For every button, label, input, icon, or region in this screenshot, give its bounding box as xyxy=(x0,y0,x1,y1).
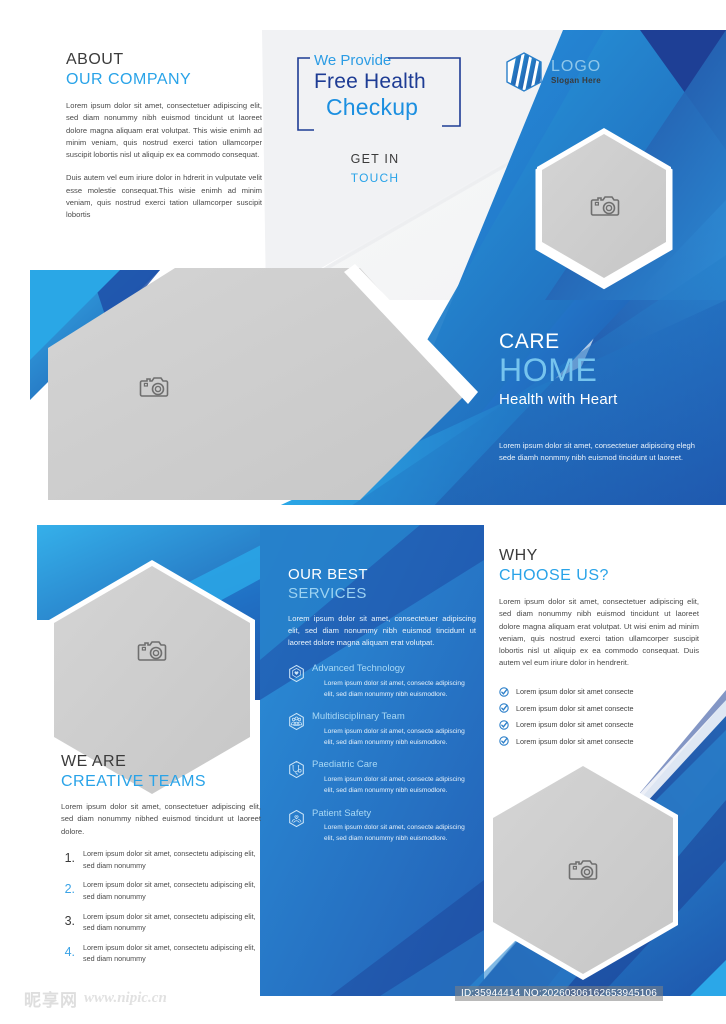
services-intro: Lorem ipsum dolor sit amet, consectetuer… xyxy=(288,613,476,650)
list-item[interactable]: 3. Lorem ipsum dolor sit amet, consectet… xyxy=(61,911,261,934)
camera-icon xyxy=(137,638,167,664)
hexagon-stethoscope-icon xyxy=(288,760,305,779)
hexagon-hands-heart-icon xyxy=(288,809,305,828)
service-description: Lorem ipsum dolor sit amet, consecte adi… xyxy=(312,678,476,701)
services-heading-line2: SERVICES xyxy=(288,585,476,604)
services-heading-line1: OUR BEST xyxy=(288,566,476,585)
check-circle-icon xyxy=(499,720,509,730)
service-item[interactable]: Paediatric Care Lorem ipsum dolor sit am… xyxy=(288,759,476,796)
why-bullet-text: Lorem ipsum dolor sit amet consecte xyxy=(516,737,633,746)
service-title: Patient Safety xyxy=(312,808,476,819)
bracket-frame-icon xyxy=(292,50,472,138)
care-line1: CARE xyxy=(499,330,709,353)
list-item[interactable]: Lorem ipsum dolor sit amet consecte xyxy=(499,736,699,746)
teams-item-text: Lorem ipsum dolor sit amet, consectetu a… xyxy=(83,911,261,934)
creative-teams-section: WE ARE CREATIVE TEAMS Lorem ipsum dolor … xyxy=(61,752,261,973)
camera-icon xyxy=(568,857,598,883)
teams-paragraph: Lorem ipsum dolor sit amet, consectetuer… xyxy=(61,801,261,838)
about-section: ABOUT OUR COMPANY Lorem ipsum dolor sit … xyxy=(66,50,262,233)
service-title: Paediatric Care xyxy=(312,759,476,770)
hexagon-stripes-logo-icon xyxy=(505,52,543,92)
logo-slogan: Slogan Here xyxy=(551,75,601,86)
status-badge: ID:35944414 NO:20260306162653945106 xyxy=(455,986,663,1001)
watermark: 昵享网 www.nipic.cn xyxy=(24,986,167,1011)
camera-icon xyxy=(139,374,169,400)
teams-item-text: Lorem ipsum dolor sit amet, consectetu a… xyxy=(83,848,261,871)
get-in-touch-line1: GET IN xyxy=(300,150,450,169)
service-title: Advanced Technology xyxy=(312,663,476,674)
list-item[interactable]: 4. Lorem ipsum dolor sit amet, consectet… xyxy=(61,942,261,965)
teams-item-number: 2. xyxy=(61,879,75,902)
get-in-touch-section: GET IN TOUCH xyxy=(300,150,450,187)
why-bullet-text: Lorem ipsum dolor sit amet consecte xyxy=(516,720,633,729)
service-item[interactable]: Multidisciplinary Team Lorem ipsum dolor… xyxy=(288,711,476,748)
about-paragraph-1: Lorem ipsum dolor sit amet, consectetuer… xyxy=(66,100,262,161)
camera-icon xyxy=(590,193,620,219)
why-bullet-list: Lorem ipsum dolor sit amet consecte Lore… xyxy=(499,687,699,747)
why-choose-us-section: WHY CHOOSE US? Lorem ipsum dolor sit ame… xyxy=(499,546,699,753)
care-line2: HOME xyxy=(499,353,709,388)
care-paragraph: Lorem ipsum dolor sit amet, consectetuer… xyxy=(499,440,695,465)
list-item[interactable]: Lorem ipsum dolor sit amet consecte xyxy=(499,687,699,697)
teams-heading-line1: WE ARE xyxy=(61,752,261,772)
teams-item-number: 3. xyxy=(61,911,75,934)
get-in-touch-line2: TOUCH xyxy=(300,169,450,187)
service-description: Lorem ipsum dolor sit amet, consecte adi… xyxy=(312,822,476,845)
why-heading-line1: WHY xyxy=(499,546,699,566)
service-title: Multidisciplinary Team xyxy=(312,711,476,722)
check-circle-icon xyxy=(499,736,509,746)
teams-item-number: 4. xyxy=(61,942,75,965)
services-section: OUR BEST SERVICES Lorem ipsum dolor sit … xyxy=(288,566,476,856)
why-paragraph: Lorem ipsum dolor sit amet, consectetuer… xyxy=(499,596,699,670)
teams-item-text: Lorem ipsum dolor sit amet, consectetu a… xyxy=(83,942,261,965)
logo-name: LOGO xyxy=(551,58,601,76)
service-description: Lorem ipsum dolor sit amet, consecte adi… xyxy=(312,726,476,749)
brochure-page: ABOUT OUR COMPANY Lorem ipsum dolor sit … xyxy=(0,0,726,1024)
care-paragraph-wrap: Lorem ipsum dolor sit amet, consectetuer… xyxy=(499,440,695,465)
list-item[interactable]: Lorem ipsum dolor sit amet consecte xyxy=(499,703,699,713)
teams-numbered-list: 1. Lorem ipsum dolor sit amet, consectet… xyxy=(61,848,261,965)
teams-item-text: Lorem ipsum dolor sit amet, consectetu a… xyxy=(83,879,261,902)
watermark-chinese-text: 昵享网 xyxy=(24,986,78,1011)
about-paragraph-2: Duis autem vel eum iriure dolor in hdrer… xyxy=(66,172,262,221)
about-heading-line1: ABOUT xyxy=(66,50,262,70)
care-line3: Health with Heart xyxy=(499,390,709,410)
list-item[interactable]: 2. Lorem ipsum dolor sit amet, consectet… xyxy=(61,879,261,902)
care-home-section: CARE HOME Health with Heart xyxy=(499,330,709,409)
teams-item-number: 1. xyxy=(61,848,75,871)
list-item[interactable]: 1. Lorem ipsum dolor sit amet, consectet… xyxy=(61,848,261,871)
why-bullet-text: Lorem ipsum dolor sit amet consecte xyxy=(516,704,633,713)
watermark-url: www.nipic.cn xyxy=(84,990,167,1007)
why-bullet-text: Lorem ipsum dolor sit amet consecte xyxy=(516,687,633,696)
service-item[interactable]: Patient Safety Lorem ipsum dolor sit ame… xyxy=(288,808,476,845)
service-item[interactable]: Advanced Technology Lorem ipsum dolor si… xyxy=(288,663,476,700)
hexagon-heart-shield-icon xyxy=(288,664,305,683)
service-description: Lorem ipsum dolor sit amet, consecte adi… xyxy=(312,774,476,797)
services-list: Advanced Technology Lorem ipsum dolor si… xyxy=(288,663,476,844)
why-heading-line2: CHOOSE US? xyxy=(499,566,699,586)
we-provide-section: We Provide Free Health Checkup xyxy=(300,52,480,122)
logo-block[interactable]: LOGO Slogan Here xyxy=(505,52,665,92)
list-item[interactable]: Lorem ipsum dolor sit amet consecte xyxy=(499,720,699,730)
check-circle-icon xyxy=(499,687,509,697)
check-circle-icon xyxy=(499,703,509,713)
about-heading-line2: OUR COMPANY xyxy=(66,70,262,90)
teams-heading-line2: CREATIVE TEAMS xyxy=(61,772,261,792)
hexagon-team-icon xyxy=(288,712,305,731)
